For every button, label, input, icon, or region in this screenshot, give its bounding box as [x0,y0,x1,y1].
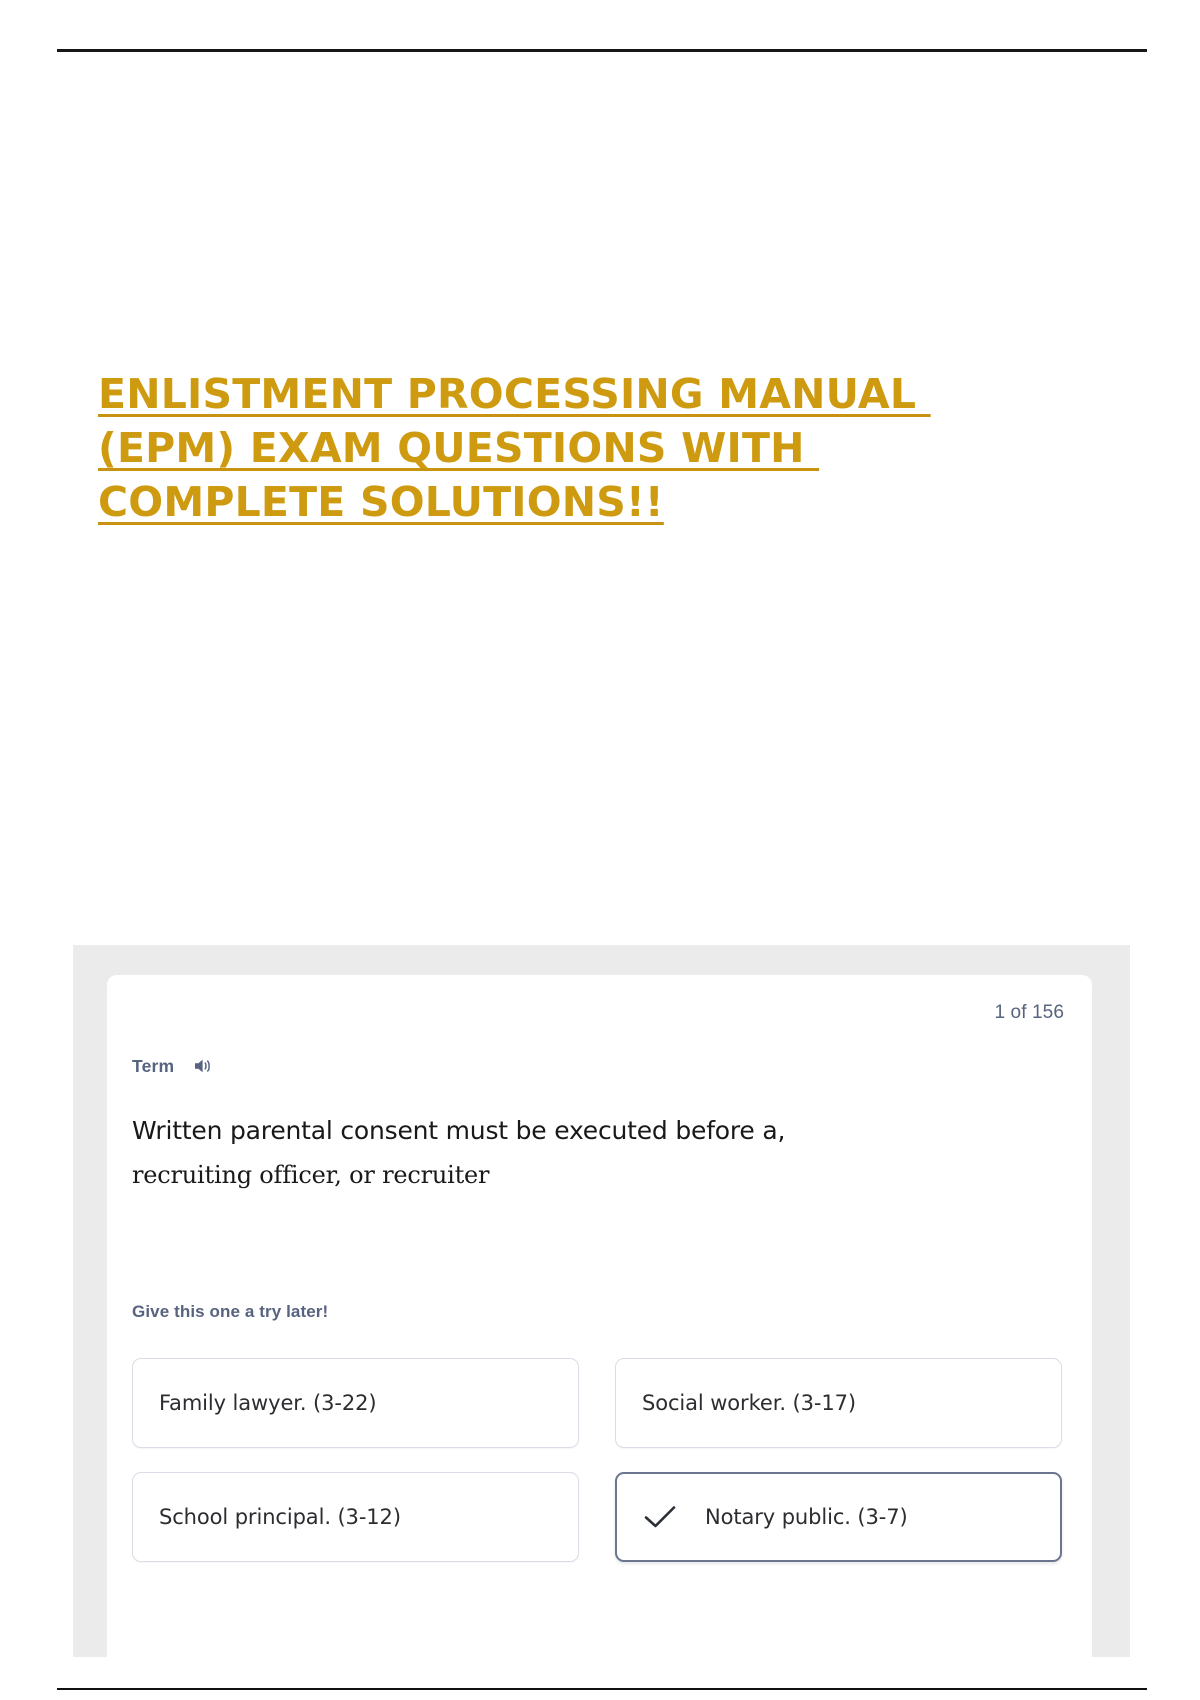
answer-option[interactable]: Social worker. (3-17) [615,1358,1062,1448]
answer-option[interactable]: Family lawyer. (3-22) [132,1358,579,1448]
answer-option-label: Social worker. (3-17) [642,1391,856,1415]
card-side-row: Term [132,1055,214,1077]
card-side-label: Term [132,1056,174,1077]
card-question-line-2: recruiting officer, or recruiter [132,1153,1012,1198]
answer-option-selected[interactable]: Notary public. (3-7) [615,1472,1062,1562]
flashcard-frame: 1 of 156 Term Written parental consent m… [73,945,1130,1657]
check-icon [643,1504,679,1530]
answer-options: Family lawyer. (3-22) Social worker. (3-… [132,1358,1062,1562]
answer-option[interactable]: School principal. (3-12) [132,1472,579,1562]
answer-option-label: School principal. (3-12) [159,1505,401,1529]
page-title-line-2: (EPM) EXAM QUESTIONS WITH [98,421,1098,475]
card-question: Written parental consent must be execute… [132,1108,1012,1198]
answer-option-label: Family lawyer. (3-22) [159,1391,376,1415]
flashcard: 1 of 156 Term Written parental consent m… [107,975,1092,1675]
page-bottom-rule [57,1688,1147,1690]
page-title-line-1: ENLISTMENT PROCESSING MANUAL [98,367,1098,421]
speaker-icon[interactable] [192,1055,214,1077]
answer-option-label: Notary public. (3-7) [705,1505,908,1529]
card-counter: 1 of 156 [995,1002,1064,1024]
page-title-line-3: COMPLETE SOLUTIONS!! [98,475,1098,529]
page-title: ENLISTMENT PROCESSING MANUAL (EPM) EXAM … [98,367,1098,529]
card-hint: Give this one a try later! [132,1302,328,1322]
page-top-rule [57,49,1147,52]
card-question-line-1: Written parental consent must be execute… [132,1108,1012,1153]
